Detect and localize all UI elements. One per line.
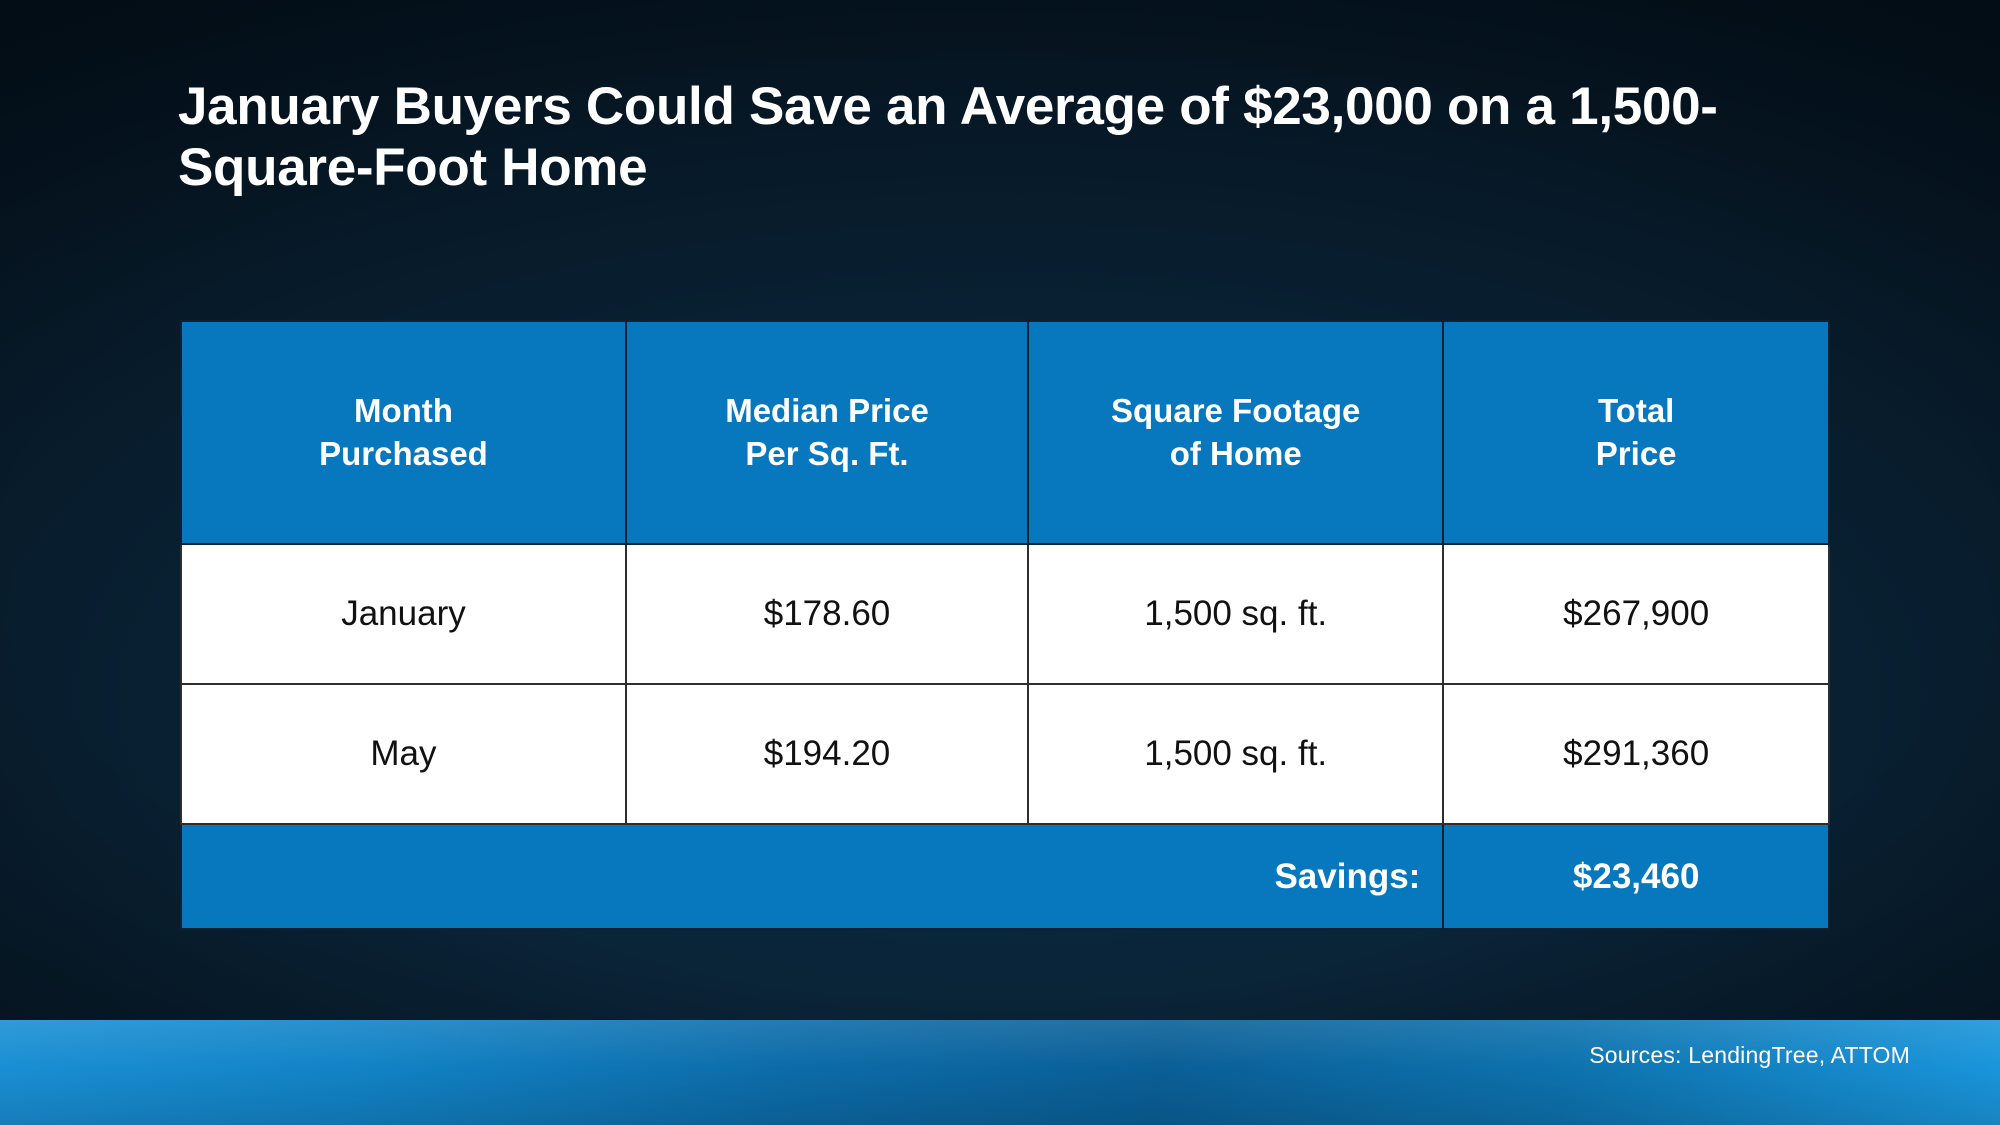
column-header-total-price: Total Price	[1443, 321, 1829, 544]
savings-row: Savings: $23,460	[181, 824, 1829, 929]
column-header-median-price: Median Price Per Sq. Ft.	[626, 321, 1028, 544]
cell-month: January	[181, 544, 626, 684]
sources-text: Sources: LendingTree, ATTOM	[1589, 1042, 1910, 1069]
slide-content: January Buyers Could Save an Average of …	[0, 0, 2000, 1125]
cell-total-price: $267,900	[1443, 544, 1829, 684]
header-line-2: Purchased	[319, 435, 488, 472]
cell-square-footage: 1,500 sq. ft.	[1028, 684, 1443, 824]
table-header: Month Purchased Median Price Per Sq. Ft.…	[181, 321, 1829, 544]
comparison-table: Month Purchased Median Price Per Sq. Ft.…	[180, 320, 1830, 930]
column-header-square-footage: Square Footage of Home	[1028, 321, 1443, 544]
header-line-1: Median Price	[725, 392, 929, 429]
header-line-1: Month	[354, 392, 453, 429]
table-row: May $194.20 1,500 sq. ft. $291,360	[181, 684, 1829, 824]
footer-bar: Sources: LendingTree, ATTOM	[0, 1020, 2000, 1125]
cell-month: May	[181, 684, 626, 824]
savings-value: $23,460	[1443, 824, 1829, 929]
cell-square-footage: 1,500 sq. ft.	[1028, 544, 1443, 684]
comparison-table-container: Month Purchased Median Price Per Sq. Ft.…	[180, 320, 1830, 930]
cell-price-per-sqft: $194.20	[626, 684, 1028, 824]
header-line-1: Square Footage	[1111, 392, 1360, 429]
header-line-2: Per Sq. Ft.	[745, 435, 908, 472]
cell-price-per-sqft: $178.60	[626, 544, 1028, 684]
header-line-1: Total	[1598, 392, 1674, 429]
header-line-2: of Home	[1170, 435, 1302, 472]
header-line-2: Price	[1596, 435, 1677, 472]
table-body: January $178.60 1,500 sq. ft. $267,900 M…	[181, 544, 1829, 929]
savings-label: Savings:	[181, 824, 1443, 929]
column-header-month: Month Purchased	[181, 321, 626, 544]
cell-total-price: $291,360	[1443, 684, 1829, 824]
page-title: January Buyers Could Save an Average of …	[178, 76, 1878, 199]
table-header-row: Month Purchased Median Price Per Sq. Ft.…	[181, 321, 1829, 544]
table-row: January $178.60 1,500 sq. ft. $267,900	[181, 544, 1829, 684]
